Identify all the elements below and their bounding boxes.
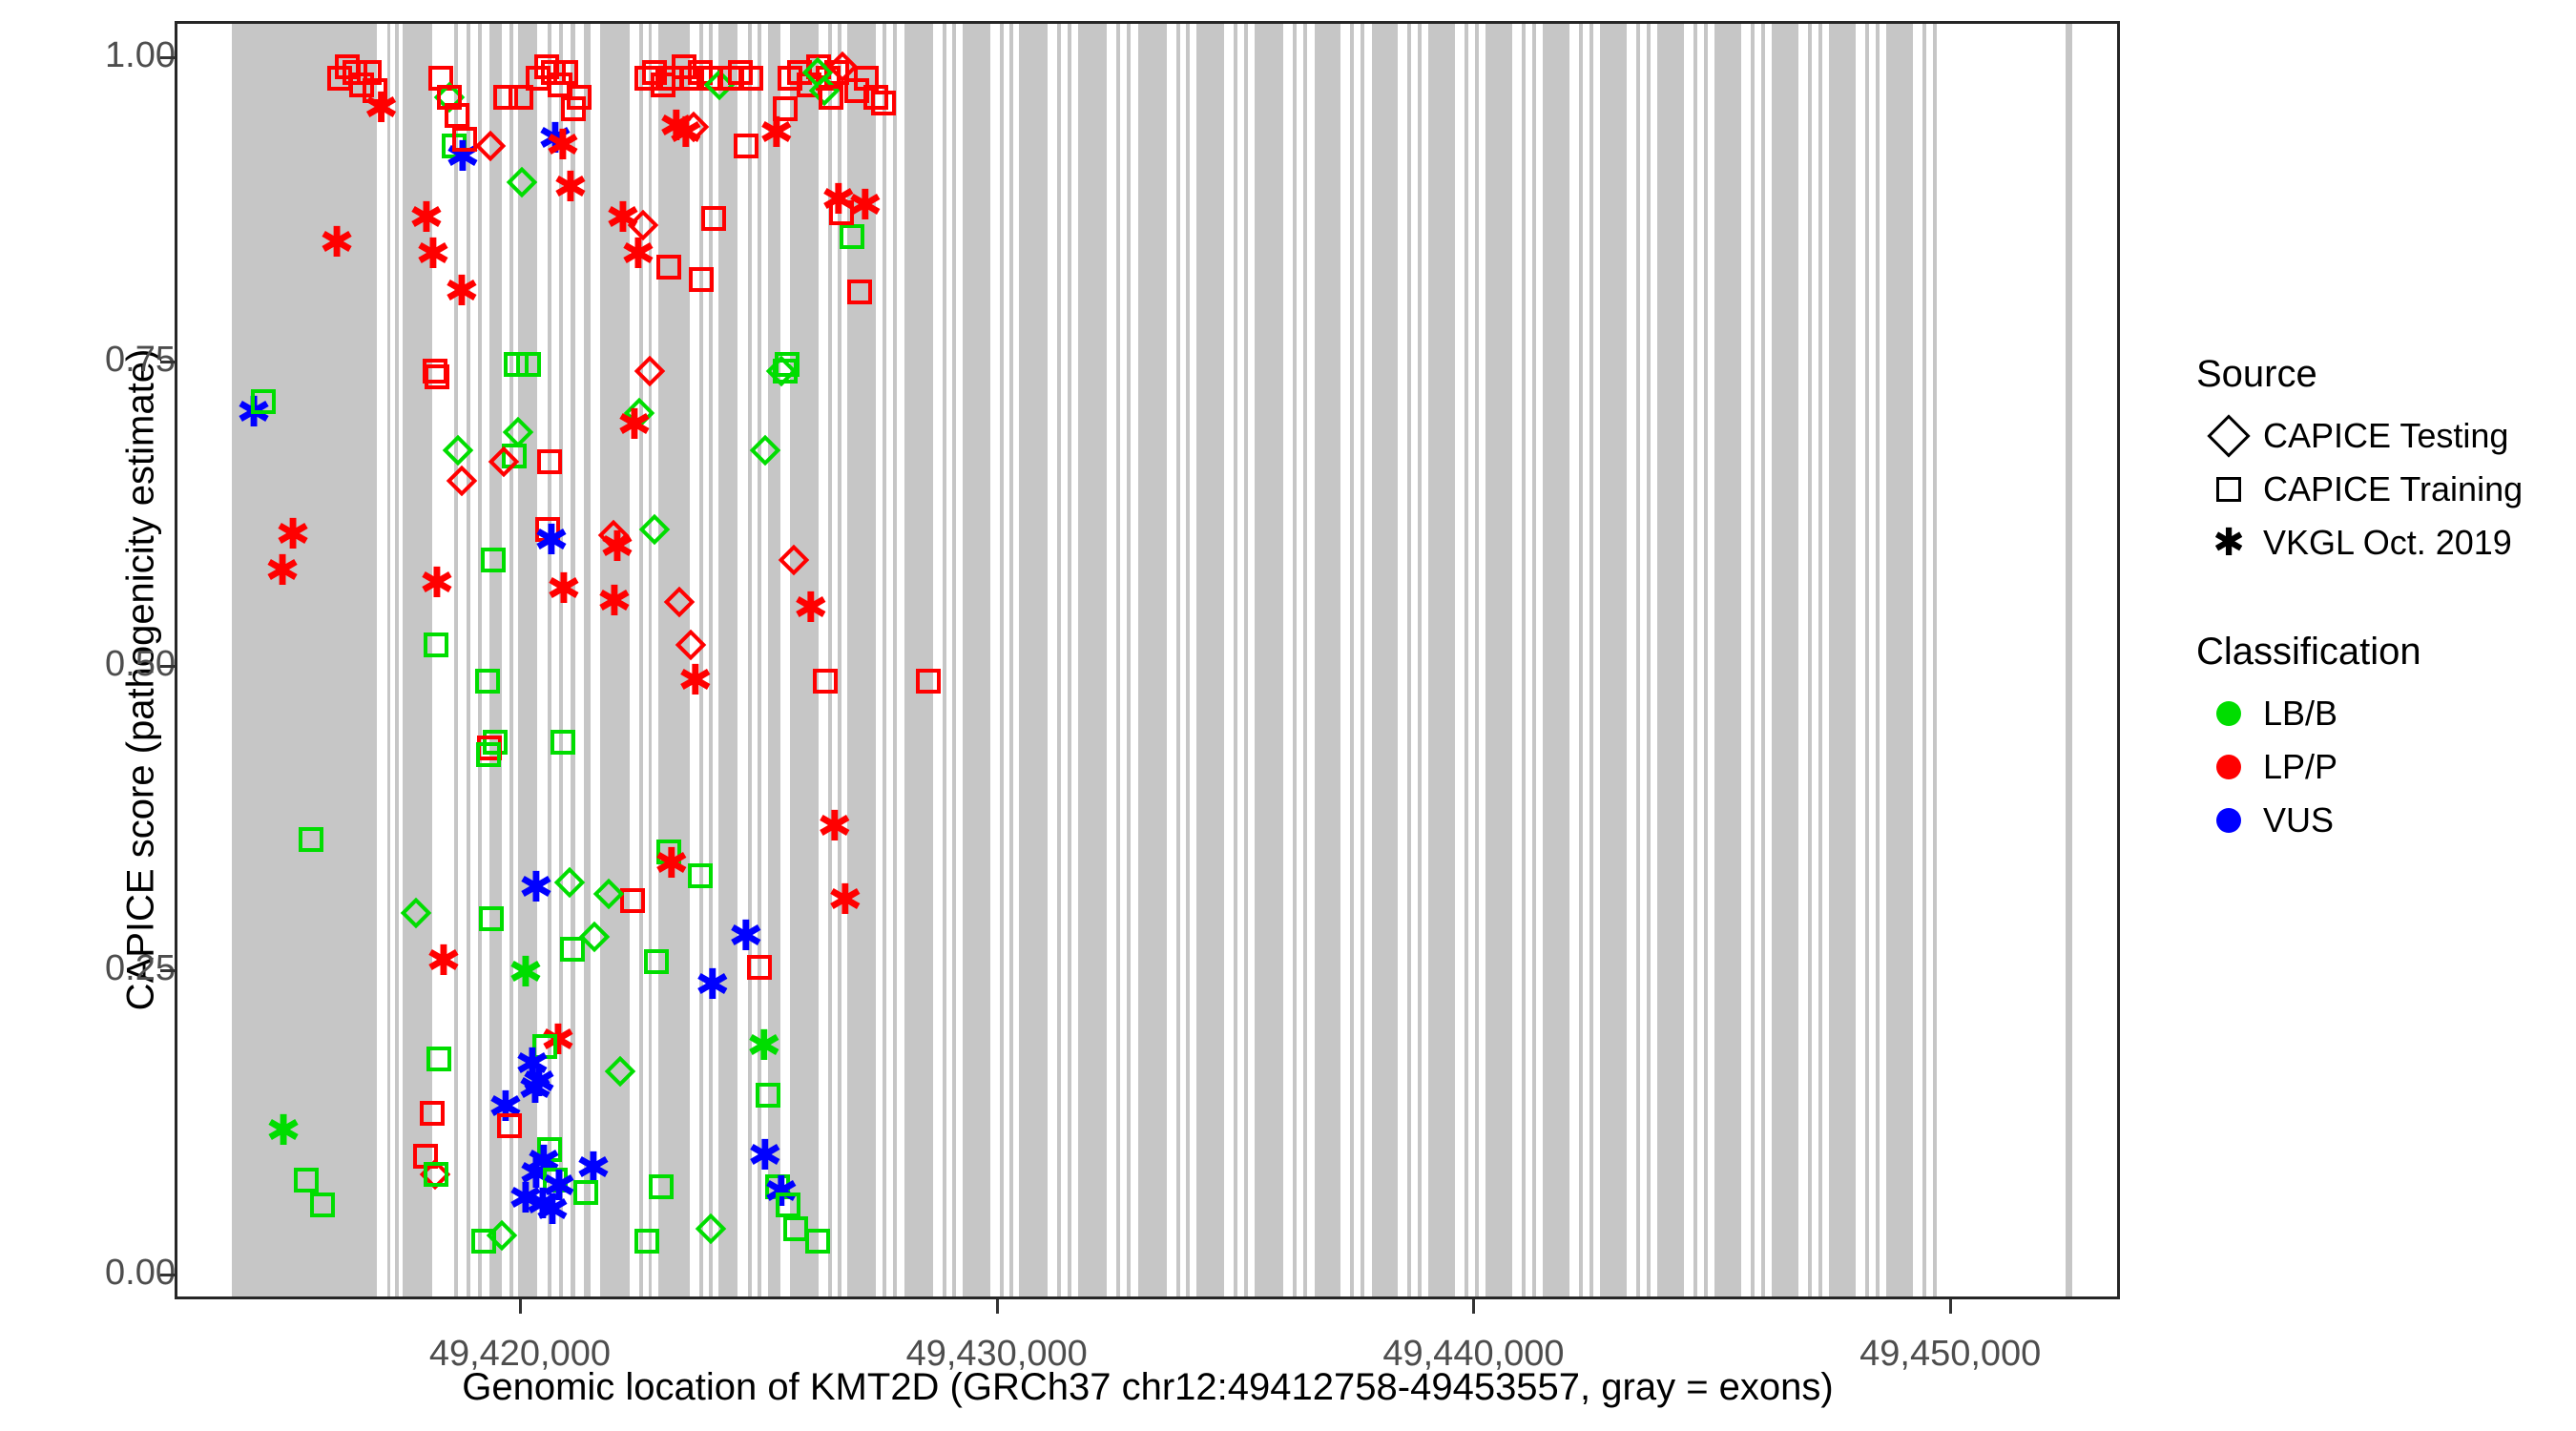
exon-band — [1019, 24, 1048, 1296]
legend-source-title: Source — [2196, 353, 2557, 396]
x-tick-mark — [1472, 1299, 1475, 1314]
point-capice-training — [534, 54, 559, 79]
exon-band — [1876, 24, 1880, 1296]
exon-band — [883, 24, 886, 1296]
exon-band — [658, 24, 689, 1296]
exon-band — [1532, 24, 1536, 1296]
point-capice-training — [543, 1168, 568, 1192]
exon-band — [963, 24, 990, 1296]
legend: Source CAPICE TestingCAPICE Training✱VKG… — [2194, 353, 2557, 847]
plot-panel: ✱✱✱✱✱✱✱✱✱✱✱✱✱✱✱✱✱✱✱✱✱✱✱✱✱✱✱✱✱✱✱✱✱✱✱✱✱✱✱✱… — [175, 21, 2120, 1299]
legend-source-items: CAPICE TestingCAPICE Training✱VKGL Oct. … — [2194, 409, 2557, 570]
point-capice-training — [634, 1229, 659, 1254]
exon-band — [1465, 24, 1468, 1296]
exon-band — [559, 24, 563, 1296]
exon-band — [1808, 24, 1812, 1296]
y-tick-label: 1.00 — [23, 37, 176, 73]
square-icon — [2194, 477, 2263, 502]
y-tick-mark — [160, 361, 175, 363]
exon-band — [699, 24, 703, 1296]
exon-band — [639, 24, 643, 1296]
exon-band — [1693, 24, 1697, 1296]
exon-band — [1714, 24, 1740, 1296]
exon-band — [1303, 24, 1307, 1296]
exon-band — [1829, 24, 1855, 1296]
point-vkgl: ✱ — [533, 520, 569, 562]
exon-band — [1475, 24, 1479, 1296]
exon-band — [1372, 24, 1398, 1296]
point-capice-testing — [434, 81, 466, 113]
exon-band — [1127, 24, 1131, 1296]
legend-item-lb-b[interactable]: LB/B — [2194, 687, 2557, 740]
legend-item-label: CAPICE Testing — [2263, 416, 2508, 456]
exon-band — [1078, 24, 1107, 1296]
exon-band — [904, 24, 933, 1296]
exon-band — [1543, 24, 1568, 1296]
exon-band — [395, 24, 398, 1296]
y-tick-label: 0.25 — [23, 950, 176, 986]
legend-classification-items: LB/BLP/PVUS — [2194, 687, 2557, 847]
x-tick-mark — [996, 1299, 999, 1314]
exon-band — [1636, 24, 1640, 1296]
asterisk-icon: ✱ — [2194, 524, 2263, 562]
exon-band — [718, 24, 737, 1296]
exon-band — [1657, 24, 1683, 1296]
exon-band — [1138, 24, 1167, 1296]
exon-band — [1350, 24, 1354, 1296]
exon-band — [2066, 24, 2072, 1296]
exon-band — [943, 24, 946, 1296]
point-vkgl: ✱ — [534, 1190, 570, 1232]
point-capice-training — [634, 66, 659, 91]
exon-band — [1589, 24, 1593, 1296]
exon-band — [709, 24, 713, 1296]
exon-band — [1579, 24, 1583, 1296]
exon-band — [1485, 24, 1511, 1296]
legend-item-label: VUS — [2263, 800, 2334, 840]
exon-band — [1186, 24, 1190, 1296]
x-tick-mark — [1949, 1299, 1952, 1314]
y-tick-label: 0.50 — [23, 646, 176, 682]
exon-band — [1361, 24, 1364, 1296]
y-tick-mark — [160, 56, 175, 59]
exon-band — [952, 24, 956, 1296]
y-tick-label: 0.75 — [23, 342, 176, 378]
point-capice-testing — [628, 209, 659, 240]
exon-band — [758, 24, 761, 1296]
color-dot-icon — [2194, 701, 2263, 726]
x-tick-label: 49,430,000 — [854, 1336, 1140, 1372]
exon-band — [1704, 24, 1708, 1296]
x-tick-label: 49,420,000 — [377, 1336, 663, 1372]
x-tick-label: 49,450,000 — [1807, 1336, 2093, 1372]
exon-band — [1772, 24, 1797, 1296]
y-tick-mark — [160, 665, 175, 668]
exon-band — [454, 24, 458, 1296]
y-tick-mark — [160, 969, 175, 972]
exon-band — [1293, 24, 1297, 1296]
exon-band — [403, 24, 432, 1296]
exon-band — [1761, 24, 1765, 1296]
exon-band — [1922, 24, 1926, 1296]
exon-band — [748, 24, 752, 1296]
exon-band — [1647, 24, 1651, 1296]
diamond-icon — [2194, 421, 2263, 451]
exon-band — [1407, 24, 1411, 1296]
legend-item-lp-p[interactable]: LP/P — [2194, 740, 2557, 794]
exon-band — [478, 24, 482, 1296]
exon-band — [1000, 24, 1004, 1296]
point-vkgl: ✱ — [537, 118, 572, 160]
exon-band — [649, 24, 652, 1296]
legend-classification-title: Classification — [2196, 631, 2557, 674]
point-capice-testing — [447, 465, 478, 496]
exon-band — [1818, 24, 1822, 1296]
point-capice-training — [437, 85, 462, 110]
exon-band — [1116, 24, 1120, 1296]
point-vkgl: ✱ — [445, 271, 480, 313]
x-tick-mark — [519, 1299, 522, 1314]
legend-item-label: VKGL Oct. 2019 — [2263, 523, 2512, 563]
legend-item-asterisk[interactable]: ✱VKGL Oct. 2019 — [2194, 516, 2557, 570]
color-dot-icon — [2194, 755, 2263, 779]
exon-band — [838, 24, 841, 1296]
legend-item-diamond[interactable]: CAPICE Testing — [2194, 409, 2557, 463]
y-tick-label: 0.00 — [23, 1255, 176, 1291]
exon-band — [600, 24, 630, 1296]
legend-item-vus[interactable]: VUS — [2194, 794, 2557, 847]
exon-band — [768, 24, 779, 1296]
exon-band — [1428, 24, 1454, 1296]
exon-band — [518, 24, 537, 1296]
exon-band — [1057, 24, 1061, 1296]
exon-band — [584, 24, 590, 1296]
exon-band — [489, 24, 502, 1296]
exon-band — [1886, 24, 1912, 1296]
legend-item-label: LB/B — [2263, 694, 2337, 734]
y-tick-mark — [160, 1274, 175, 1276]
exon-band — [1176, 24, 1180, 1296]
exon-band — [1244, 24, 1248, 1296]
legend-item-label: CAPICE Training — [2263, 469, 2523, 509]
legend-spacer — [2194, 570, 2557, 631]
exon-band — [1600, 24, 1626, 1296]
exon-band — [1418, 24, 1422, 1296]
exon-band — [509, 24, 513, 1296]
point-vkgl: ✱ — [446, 136, 481, 178]
legend-item-square[interactable]: CAPICE Training — [2194, 463, 2557, 516]
exon-band — [1255, 24, 1283, 1296]
color-dot-icon — [2194, 808, 2263, 833]
exon-band — [828, 24, 832, 1296]
legend-item-label: LP/P — [2263, 747, 2337, 787]
exon-band — [1068, 24, 1071, 1296]
exon-band — [893, 24, 897, 1296]
exon-band — [1751, 24, 1755, 1296]
chart-figure: CAPICE score (pathogenicity estimate) Ge… — [0, 0, 2576, 1431]
exon-band — [1234, 24, 1237, 1296]
exon-band — [571, 24, 575, 1296]
exon-band — [1933, 24, 1937, 1296]
exon-band — [790, 24, 819, 1296]
exon-band — [1522, 24, 1526, 1296]
exon-band — [387, 24, 390, 1296]
exon-band — [1009, 24, 1013, 1296]
exon-band — [467, 24, 469, 1296]
exon-band — [548, 24, 551, 1296]
exon-band — [1865, 24, 1869, 1296]
x-tick-label: 49,440,000 — [1330, 1336, 1616, 1372]
point-vkgl: ✱ — [546, 569, 581, 611]
exon-band — [847, 24, 876, 1296]
exon-band — [1196, 24, 1224, 1296]
exon-band — [1315, 24, 1340, 1296]
exon-band — [232, 24, 377, 1296]
